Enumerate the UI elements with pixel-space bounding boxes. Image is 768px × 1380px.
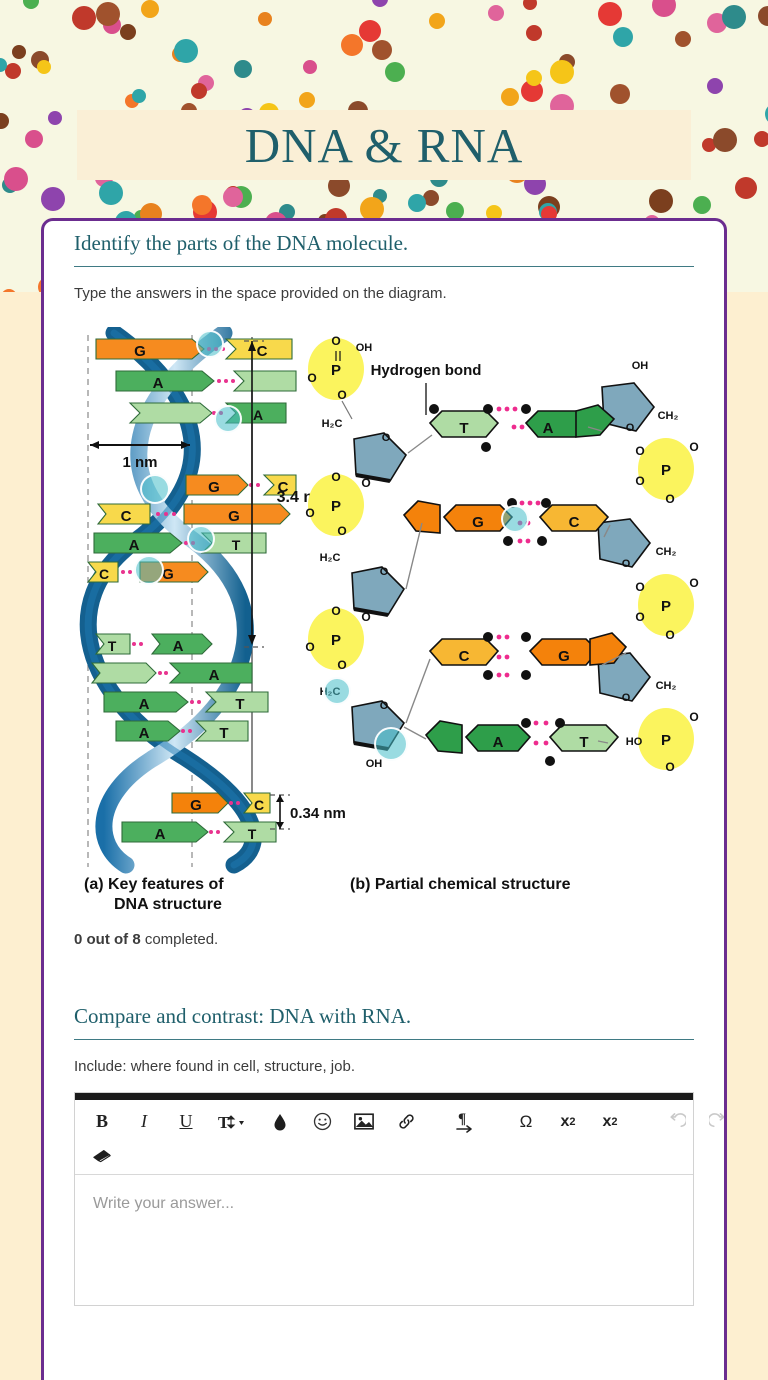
question-2-divider bbox=[74, 1039, 694, 1040]
confetti-dot bbox=[72, 6, 96, 30]
svg-text:C: C bbox=[569, 514, 580, 531]
subscript-base: x bbox=[560, 1113, 569, 1131]
svg-text:O: O bbox=[382, 432, 391, 444]
text-direction-button[interactable]: ¶ bbox=[449, 1107, 483, 1137]
question-2-instruction: Include: where found in cell, structure,… bbox=[74, 1056, 694, 1078]
confetti-dot bbox=[96, 2, 120, 26]
confetti-dot bbox=[303, 60, 317, 74]
svg-text:O: O bbox=[337, 658, 346, 672]
confetti-dot bbox=[610, 84, 630, 104]
svg-text:A: A bbox=[173, 638, 184, 655]
svg-text:CH₂: CH₂ bbox=[656, 546, 677, 558]
svg-text:O: O bbox=[380, 700, 389, 712]
svg-text:A: A bbox=[253, 407, 263, 423]
confetti-dot bbox=[48, 111, 62, 125]
svg-text:OH: OH bbox=[366, 758, 383, 770]
undo-button[interactable] bbox=[659, 1107, 693, 1137]
confetti-dot bbox=[652, 0, 676, 17]
worksheet-card: Identify the parts of the DNA molecule. … bbox=[41, 218, 727, 1380]
svg-text:CH₂: CH₂ bbox=[658, 410, 679, 422]
confetti-dot bbox=[707, 78, 723, 94]
confetti-dot bbox=[1, 289, 17, 292]
svg-text:A: A bbox=[153, 375, 164, 392]
svg-text:O: O bbox=[635, 444, 644, 458]
confetti-dot bbox=[598, 2, 622, 26]
svg-text:O: O bbox=[689, 710, 698, 724]
svg-text:O: O bbox=[305, 506, 314, 520]
answer-hotspot-6[interactable] bbox=[501, 505, 529, 533]
hydrogen-bond-label: Hydrogen bond bbox=[371, 362, 482, 379]
underline-button[interactable]: U bbox=[169, 1107, 203, 1137]
insert-image-button[interactable] bbox=[347, 1107, 381, 1137]
confetti-dot bbox=[523, 0, 537, 10]
svg-text:O: O bbox=[635, 610, 644, 624]
confetti-dot bbox=[550, 60, 574, 84]
redo-icon bbox=[709, 1112, 728, 1131]
progress-status: 0 out of 8 completed. bbox=[74, 931, 694, 948]
confetti-dot bbox=[0, 113, 9, 129]
toolbar-row-1: B I U T bbox=[85, 1104, 683, 1140]
svg-text:O: O bbox=[337, 388, 346, 402]
answer-hotspot-3[interactable] bbox=[140, 474, 170, 504]
svg-text:O: O bbox=[380, 566, 389, 578]
emoji-icon bbox=[313, 1112, 332, 1131]
editor-top-bar bbox=[75, 1093, 693, 1100]
svg-text:¶: ¶ bbox=[458, 1111, 466, 1127]
svg-text:T: T bbox=[235, 696, 244, 713]
confetti-dot bbox=[713, 128, 737, 152]
confetti-dot bbox=[192, 195, 212, 215]
question-1: Identify the parts of the DNA molecule. … bbox=[74, 221, 694, 948]
svg-text:O: O bbox=[689, 576, 698, 590]
italic-button[interactable]: I bbox=[127, 1107, 161, 1137]
svg-text:P: P bbox=[331, 632, 341, 649]
confetti-dot bbox=[141, 0, 159, 18]
svg-text:P: P bbox=[661, 462, 671, 479]
svg-text:OH: OH bbox=[356, 342, 373, 354]
dna-diagram[interactable]: G C A A G bbox=[74, 327, 700, 917]
confetti-dot bbox=[41, 187, 65, 211]
superscript-base: x bbox=[602, 1113, 611, 1131]
answer-hotspot-4[interactable] bbox=[187, 525, 215, 553]
answer-hotspot-5[interactable] bbox=[134, 555, 164, 585]
panel-a-caption-line2: DNA structure bbox=[114, 896, 222, 913]
font-size-button[interactable]: T bbox=[211, 1107, 255, 1137]
svg-text:G: G bbox=[558, 648, 570, 665]
section-spacer bbox=[74, 948, 694, 994]
editor-toolbar: B I U T bbox=[75, 1100, 693, 1175]
question-2: Compare and contrast: DNA with RNA. Incl… bbox=[74, 994, 694, 1306]
confetti-dot bbox=[12, 45, 26, 59]
svg-text:O: O bbox=[665, 760, 674, 774]
svg-text:C: C bbox=[121, 508, 132, 525]
confetti-dot bbox=[359, 20, 381, 42]
svg-text:O: O bbox=[331, 604, 340, 618]
answer-hotspot-8[interactable] bbox=[374, 727, 408, 761]
subscript-index: 2 bbox=[569, 1116, 575, 1128]
svg-text:O: O bbox=[331, 470, 340, 484]
color-drop-icon bbox=[273, 1112, 287, 1132]
answer-textarea[interactable]: Write your answer... bbox=[75, 1175, 693, 1305]
svg-text:T: T bbox=[219, 725, 228, 742]
confetti-dot bbox=[429, 13, 445, 29]
svg-text:G: G bbox=[134, 343, 146, 360]
svg-text:OH: OH bbox=[632, 360, 649, 372]
svg-text:T: T bbox=[218, 1113, 230, 1132]
image-icon bbox=[354, 1113, 374, 1130]
svg-text:A: A bbox=[139, 725, 150, 742]
svg-text:O: O bbox=[361, 610, 370, 624]
svg-text:G: G bbox=[190, 797, 202, 814]
confetti-dot bbox=[37, 60, 51, 74]
measure-1nm: 1 nm bbox=[122, 454, 157, 471]
svg-text:A: A bbox=[493, 734, 504, 751]
toolbar-row-2 bbox=[85, 1140, 683, 1172]
question-1-divider bbox=[74, 266, 694, 267]
confetti-dot bbox=[4, 167, 28, 191]
svg-text:T: T bbox=[232, 537, 241, 553]
svg-text:C: C bbox=[99, 566, 109, 582]
confetti-dot bbox=[722, 5, 746, 29]
question-2-title: Compare and contrast: DNA with RNA. bbox=[74, 994, 694, 1039]
confetti-dot bbox=[234, 60, 252, 78]
svg-text:CH₂: CH₂ bbox=[656, 680, 677, 692]
svg-text:O: O bbox=[635, 474, 644, 488]
rich-text-editor: B I U T bbox=[74, 1092, 694, 1306]
confetti-dot bbox=[99, 181, 123, 205]
confetti-dot bbox=[120, 24, 136, 40]
svg-text:T: T bbox=[579, 734, 588, 751]
confetti-dot bbox=[372, 0, 388, 7]
progress-suffix: completed. bbox=[145, 931, 218, 948]
confetti-dot bbox=[258, 12, 272, 26]
undo-icon bbox=[667, 1112, 686, 1131]
confetti-dot bbox=[223, 187, 243, 207]
svg-text:G: G bbox=[208, 479, 220, 496]
link-icon bbox=[397, 1112, 416, 1131]
confetti-dot bbox=[693, 196, 711, 214]
answer-hotspot-1[interactable] bbox=[196, 330, 224, 358]
text-color-button[interactable] bbox=[263, 1107, 297, 1137]
confetti-dot bbox=[191, 83, 207, 99]
clear-formatting-button[interactable] bbox=[85, 1141, 119, 1171]
confetti-dot bbox=[526, 25, 542, 41]
chemical-panel: Hydrogen bond P O OH O O bbox=[305, 334, 698, 893]
answer-hotspot-7[interactable] bbox=[323, 677, 351, 705]
svg-text:O: O bbox=[635, 580, 644, 594]
svg-text:A: A bbox=[209, 667, 220, 684]
svg-text:P: P bbox=[331, 362, 341, 379]
svg-text:HO: HO bbox=[626, 736, 643, 748]
confetti-dot bbox=[408, 194, 426, 212]
superscript-button[interactable]: x2 bbox=[593, 1107, 627, 1137]
special-character-button[interactable]: Ω bbox=[509, 1107, 543, 1137]
svg-text:A: A bbox=[139, 696, 150, 713]
svg-text:T: T bbox=[108, 638, 117, 654]
confetti-dot bbox=[23, 0, 39, 9]
confetti-dot bbox=[675, 31, 691, 47]
dna-diagram-svg: G C A A G bbox=[74, 327, 700, 917]
confetti-dot bbox=[754, 131, 768, 147]
svg-text:O: O bbox=[665, 492, 674, 506]
svg-text:A: A bbox=[155, 826, 166, 843]
svg-text:T: T bbox=[248, 826, 257, 842]
eraser-icon bbox=[92, 1148, 112, 1164]
progress-count: 0 out of 8 bbox=[74, 931, 141, 948]
svg-text:O: O bbox=[665, 628, 674, 642]
redo-button[interactable] bbox=[701, 1107, 727, 1137]
subscript-button[interactable]: x2 bbox=[551, 1107, 585, 1137]
confetti-dot bbox=[649, 189, 673, 213]
svg-text:O: O bbox=[305, 640, 314, 654]
panel-a-caption-line1: (a) Key features of bbox=[84, 876, 224, 893]
panel-b-caption: (b) Partial chemical structure bbox=[350, 876, 571, 893]
svg-text:C: C bbox=[257, 343, 268, 360]
confetti-dot bbox=[299, 92, 315, 108]
measure-0-34nm: 0.34 nm bbox=[290, 805, 346, 822]
confetti-dot bbox=[372, 40, 392, 60]
svg-text:G: G bbox=[228, 508, 240, 525]
confetti-dot bbox=[5, 63, 21, 79]
confetti-dot bbox=[735, 177, 757, 199]
question-1-title: Identify the parts of the DNA molecule. bbox=[74, 221, 694, 266]
confetti-dot bbox=[488, 5, 504, 21]
confetti-dot bbox=[613, 27, 633, 47]
svg-text:H₂C: H₂C bbox=[320, 552, 341, 564]
svg-text:O: O bbox=[622, 558, 631, 570]
svg-text:P: P bbox=[661, 732, 671, 749]
confetti-dot bbox=[526, 70, 542, 86]
question-1-instruction: Type the answers in the space provided o… bbox=[74, 283, 694, 305]
confetti-dot bbox=[25, 130, 43, 148]
svg-text:O: O bbox=[337, 524, 346, 538]
paragraph-direction-icon: ¶ bbox=[455, 1110, 477, 1134]
svg-text:O: O bbox=[622, 692, 631, 704]
svg-text:P: P bbox=[661, 598, 671, 615]
svg-text:A: A bbox=[129, 537, 140, 554]
confetti-dot bbox=[174, 39, 198, 63]
svg-text:O: O bbox=[307, 371, 316, 385]
page-title: DNA & RNA bbox=[245, 121, 524, 170]
superscript-index: 2 bbox=[611, 1116, 617, 1128]
svg-text:A: A bbox=[543, 420, 554, 437]
confetti-dot bbox=[341, 34, 363, 56]
svg-text:C: C bbox=[459, 648, 470, 665]
insert-link-button[interactable] bbox=[389, 1107, 423, 1137]
svg-text:H₂C: H₂C bbox=[322, 418, 343, 430]
confetti-dot bbox=[501, 88, 519, 106]
confetti-dot bbox=[758, 6, 768, 26]
svg-text:O: O bbox=[689, 440, 698, 454]
font-size-icon: T bbox=[218, 1112, 248, 1132]
answer-hotspot-2[interactable] bbox=[214, 405, 242, 433]
svg-text:O: O bbox=[361, 476, 370, 490]
svg-text:P: P bbox=[331, 498, 341, 515]
confetti-dot bbox=[132, 89, 146, 103]
worksheet-title-banner: DNA & RNA bbox=[77, 110, 691, 180]
bold-button[interactable]: B bbox=[85, 1107, 119, 1137]
svg-text:G: G bbox=[472, 514, 484, 531]
emoji-button[interactable] bbox=[305, 1107, 339, 1137]
svg-text:O: O bbox=[331, 334, 340, 348]
confetti-dot bbox=[385, 62, 405, 82]
svg-text:O: O bbox=[626, 422, 635, 434]
svg-text:T: T bbox=[459, 420, 468, 437]
svg-text:C: C bbox=[254, 797, 264, 813]
